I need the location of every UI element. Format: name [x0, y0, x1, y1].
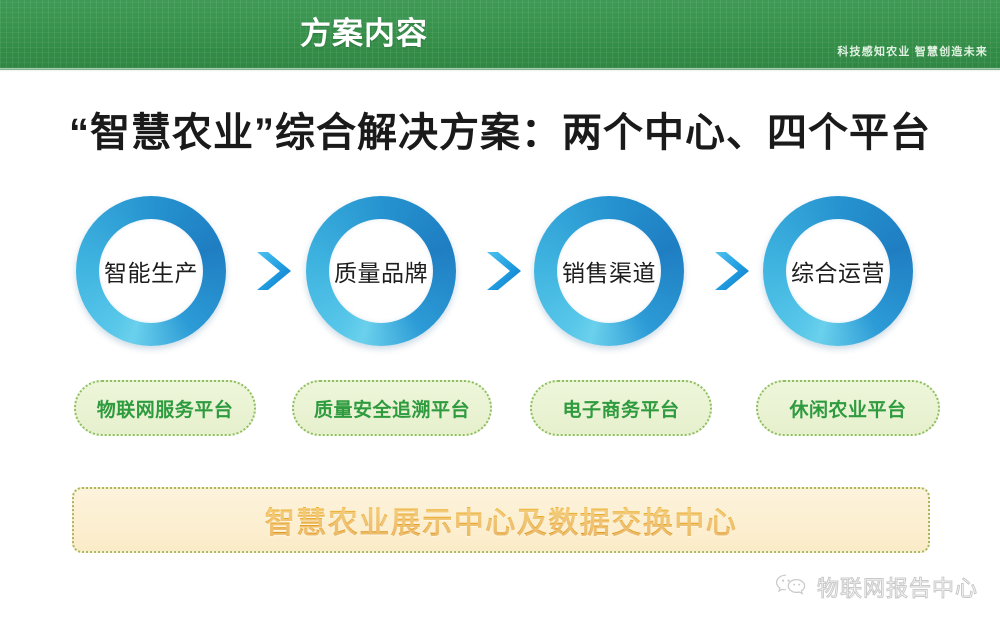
- flow-diagram: 智能生产 质量品牌: [60, 196, 950, 346]
- flow-step-3[interactable]: 销售渠道: [528, 196, 690, 346]
- chevron-right-icon-3: [712, 248, 756, 294]
- header-tagline: 科技感知农业 智慧创造未来: [837, 43, 988, 59]
- flow-step-label-1: 智能生产: [76, 196, 226, 346]
- flow-step-4[interactable]: 综合运营: [757, 196, 919, 346]
- watermark: 物联网报告中心: [775, 571, 978, 603]
- center-banner-label: 智慧农业展示中心及数据交换中心: [265, 498, 738, 542]
- platform-item-2[interactable]: 质量安全追溯平台: [292, 380, 492, 436]
- flow-step-label-3: 销售渠道: [534, 196, 684, 346]
- header-band: 方案内容 科技感知农业 智慧创造未来: [0, 0, 1000, 70]
- header-title: 方案内容: [300, 8, 720, 53]
- center-banner[interactable]: 智慧农业展示中心及数据交换中心: [72, 487, 930, 553]
- slide-canvas: 方案内容 科技感知农业 智慧创造未来 “智慧农业”综合解决方案：两个中心、四个平…: [0, 0, 1000, 625]
- chevron-right-icon-1: [254, 248, 298, 294]
- platform-item-1[interactable]: 物联网服务平台: [74, 380, 256, 436]
- flow-step-2[interactable]: 质量品牌: [300, 196, 462, 346]
- flow-step-1[interactable]: 智能生产: [70, 196, 232, 346]
- watermark-label: 物联网报告中心: [817, 571, 978, 603]
- wechat-icon: [775, 572, 809, 603]
- platform-list: 物联网服务平台 质量安全追溯平台 电子商务平台 休闲农业平台: [60, 380, 950, 438]
- flow-step-label-4: 综合运营: [763, 196, 913, 346]
- chevron-right-icon-2: [484, 248, 528, 294]
- platform-item-4[interactable]: 休闲农业平台: [756, 380, 940, 436]
- platform-item-3[interactable]: 电子商务平台: [530, 380, 712, 436]
- flow-step-label-2: 质量品牌: [306, 196, 456, 346]
- page-title: “智慧农业”综合解决方案：两个中心、四个平台: [0, 100, 1000, 158]
